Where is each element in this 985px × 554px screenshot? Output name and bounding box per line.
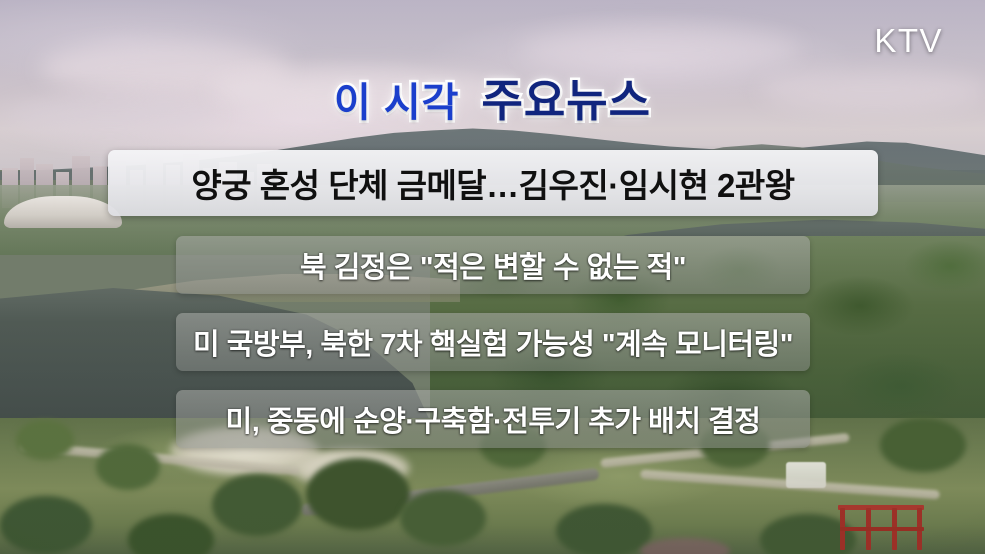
park-pavilion (786, 462, 826, 488)
broadcast-screen: KTV 이 시각주요뉴스 양궁 혼성 단체 금메달…김우진·임시현 2관왕 북 … (0, 0, 985, 554)
channel-logo: KTV (874, 22, 943, 60)
headline-text: 미, 중동에 순양·구축함·전투기 추가 배치 결정 (226, 398, 761, 440)
section-title-part1: 이 시각 (334, 83, 460, 123)
headline-band-primary[interactable]: 양궁 혼성 단체 금메달…김우진·임시현 2관왕 (108, 150, 878, 216)
headline-text: 양궁 혼성 단체 금메달…김우진·임시현 2관왕 (191, 159, 794, 207)
headline-text: 북 김정은 "적은 변할 수 없는 적" (300, 244, 686, 286)
headline-band-secondary[interactable]: 북 김정은 "적은 변할 수 없는 적" (176, 236, 810, 294)
tree-canopy (16, 420, 74, 460)
tree-canopy (880, 418, 966, 472)
tree-canopy (0, 496, 92, 554)
flower-bed (640, 538, 730, 554)
tree-canopy (556, 504, 652, 554)
headline-band-secondary[interactable]: 미 국방부, 북한 7차 핵실험 가능성 "계속 모니터링" (176, 313, 810, 371)
headline-band-secondary[interactable]: 미, 중동에 순양·구축함·전투기 추가 배치 결정 (176, 390, 810, 448)
tree-canopy (400, 490, 486, 546)
red-pergola-structure (838, 505, 924, 549)
tree-canopy (306, 458, 410, 530)
tree-canopy (96, 444, 160, 490)
section-title: 이 시각주요뉴스 (0, 78, 985, 123)
tree-canopy (128, 514, 214, 554)
headline-text: 미 국방부, 북한 7차 핵실험 가능성 "계속 모니터링" (193, 321, 793, 363)
cloud-shape (520, 28, 800, 72)
section-title-part2: 주요뉴스 (481, 78, 651, 123)
tree-canopy (212, 474, 302, 536)
